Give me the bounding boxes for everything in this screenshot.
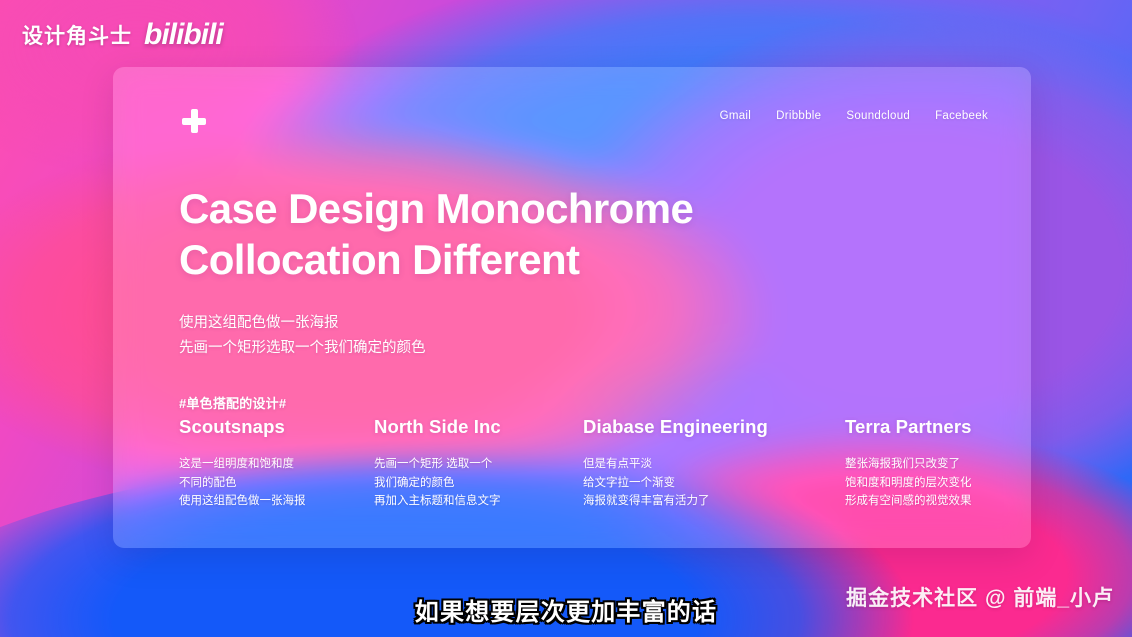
poster-subtitle: 使用这组配色做一张海报 先画一个矩形选取一个我们确定的颜色 <box>179 311 990 361</box>
poster-column-diabase-engineering: Diabase Engineering 但是有点平淡 给文字拉一个渐变 海报就变… <box>583 416 845 511</box>
column-title: Scoutsnaps <box>179 416 374 438</box>
column-body-line-3: 形成有空间感的视觉效果 <box>845 492 972 511</box>
poster-column-terra-partners: Terra Partners 整张海报我们只改变了 饱和度和明度的层次变化 形成… <box>845 416 972 511</box>
column-title: Diabase Engineering <box>583 416 845 438</box>
column-body: 先画一个矩形 选取一个 我们确定的颜色 再加入主标题和信息文字 <box>374 455 583 511</box>
subtitle-line-2: 先画一个矩形选取一个我们确定的颜色 <box>179 336 990 361</box>
column-body-line-2: 不同的配色 <box>179 474 374 493</box>
screenshot-stage: 设计角斗士 bilibili Gmail Dribbble Soundcloud… <box>0 0 1132 637</box>
column-title: Terra Partners <box>845 416 972 438</box>
headline-line-1: Case Design Monochrome <box>179 183 990 234</box>
brand-title: 设计角斗士 <box>22 20 132 50</box>
column-body-line-1: 先画一个矩形 选取一个 <box>374 455 583 474</box>
column-body-line-3: 海报就变得丰富有活力了 <box>583 492 845 511</box>
column-body-line-2: 给文字拉一个渐变 <box>583 474 845 493</box>
column-body-line-3: 再加入主标题和信息文字 <box>374 492 583 511</box>
column-body: 这是一组明度和饱和度 不同的配色 使用这组配色做一张海报 <box>179 455 374 511</box>
nav-item-facebeek[interactable]: Facebeek <box>935 110 988 122</box>
nav-item-gmail[interactable]: Gmail <box>720 110 752 122</box>
column-body: 但是有点平淡 给文字拉一个渐变 海报就变得丰富有活力了 <box>583 455 845 511</box>
headline-line-2: Collocation Different <box>179 234 990 285</box>
column-body-line-1: 整张海报我们只改变了 <box>845 455 972 474</box>
watermark: 掘金技术社区 @ 前端_小卢 <box>846 582 1114 612</box>
poster-card: Gmail Dribbble Soundcloud Facebeek Case … <box>113 67 1031 548</box>
column-body-line-2: 我们确定的颜色 <box>374 474 583 493</box>
brand-header: 设计角斗士 bilibili <box>22 20 223 50</box>
column-body-line-3: 使用这组配色做一张海报 <box>179 492 374 511</box>
poster-columns: Scoutsnaps 这是一组明度和饱和度 不同的配色 使用这组配色做一张海报 … <box>179 416 990 511</box>
poster-hashtag: #单色搭配的设计# <box>179 393 990 412</box>
poster-header-row: Gmail Dribbble Soundcloud Facebeek <box>179 98 990 158</box>
poster-nav: Gmail Dribbble Soundcloud Facebeek <box>720 110 988 122</box>
column-body-line-2: 饱和度和明度的层次变化 <box>845 474 972 493</box>
column-body-line-1: 这是一组明度和饱和度 <box>179 455 374 474</box>
column-body-line-1: 但是有点平淡 <box>583 455 845 474</box>
subtitle-line-1: 使用这组配色做一张海报 <box>179 311 990 336</box>
column-body: 整张海报我们只改变了 饱和度和明度的层次变化 形成有空间感的视觉效果 <box>845 455 972 511</box>
nav-item-dribbble[interactable]: Dribbble <box>776 110 821 122</box>
nav-item-soundcloud[interactable]: Soundcloud <box>846 110 910 122</box>
poster-headline: Case Design Monochrome Collocation Diffe… <box>179 183 990 285</box>
column-title: North Side Inc <box>374 416 583 438</box>
poster-column-scoutsnaps: Scoutsnaps 这是一组明度和饱和度 不同的配色 使用这组配色做一张海报 <box>179 416 374 511</box>
poster-column-north-side-inc: North Side Inc 先画一个矩形 选取一个 我们确定的颜色 再加入主标… <box>374 416 583 511</box>
bilibili-logo: bilibili <box>144 20 223 50</box>
plus-icon[interactable] <box>182 109 206 133</box>
